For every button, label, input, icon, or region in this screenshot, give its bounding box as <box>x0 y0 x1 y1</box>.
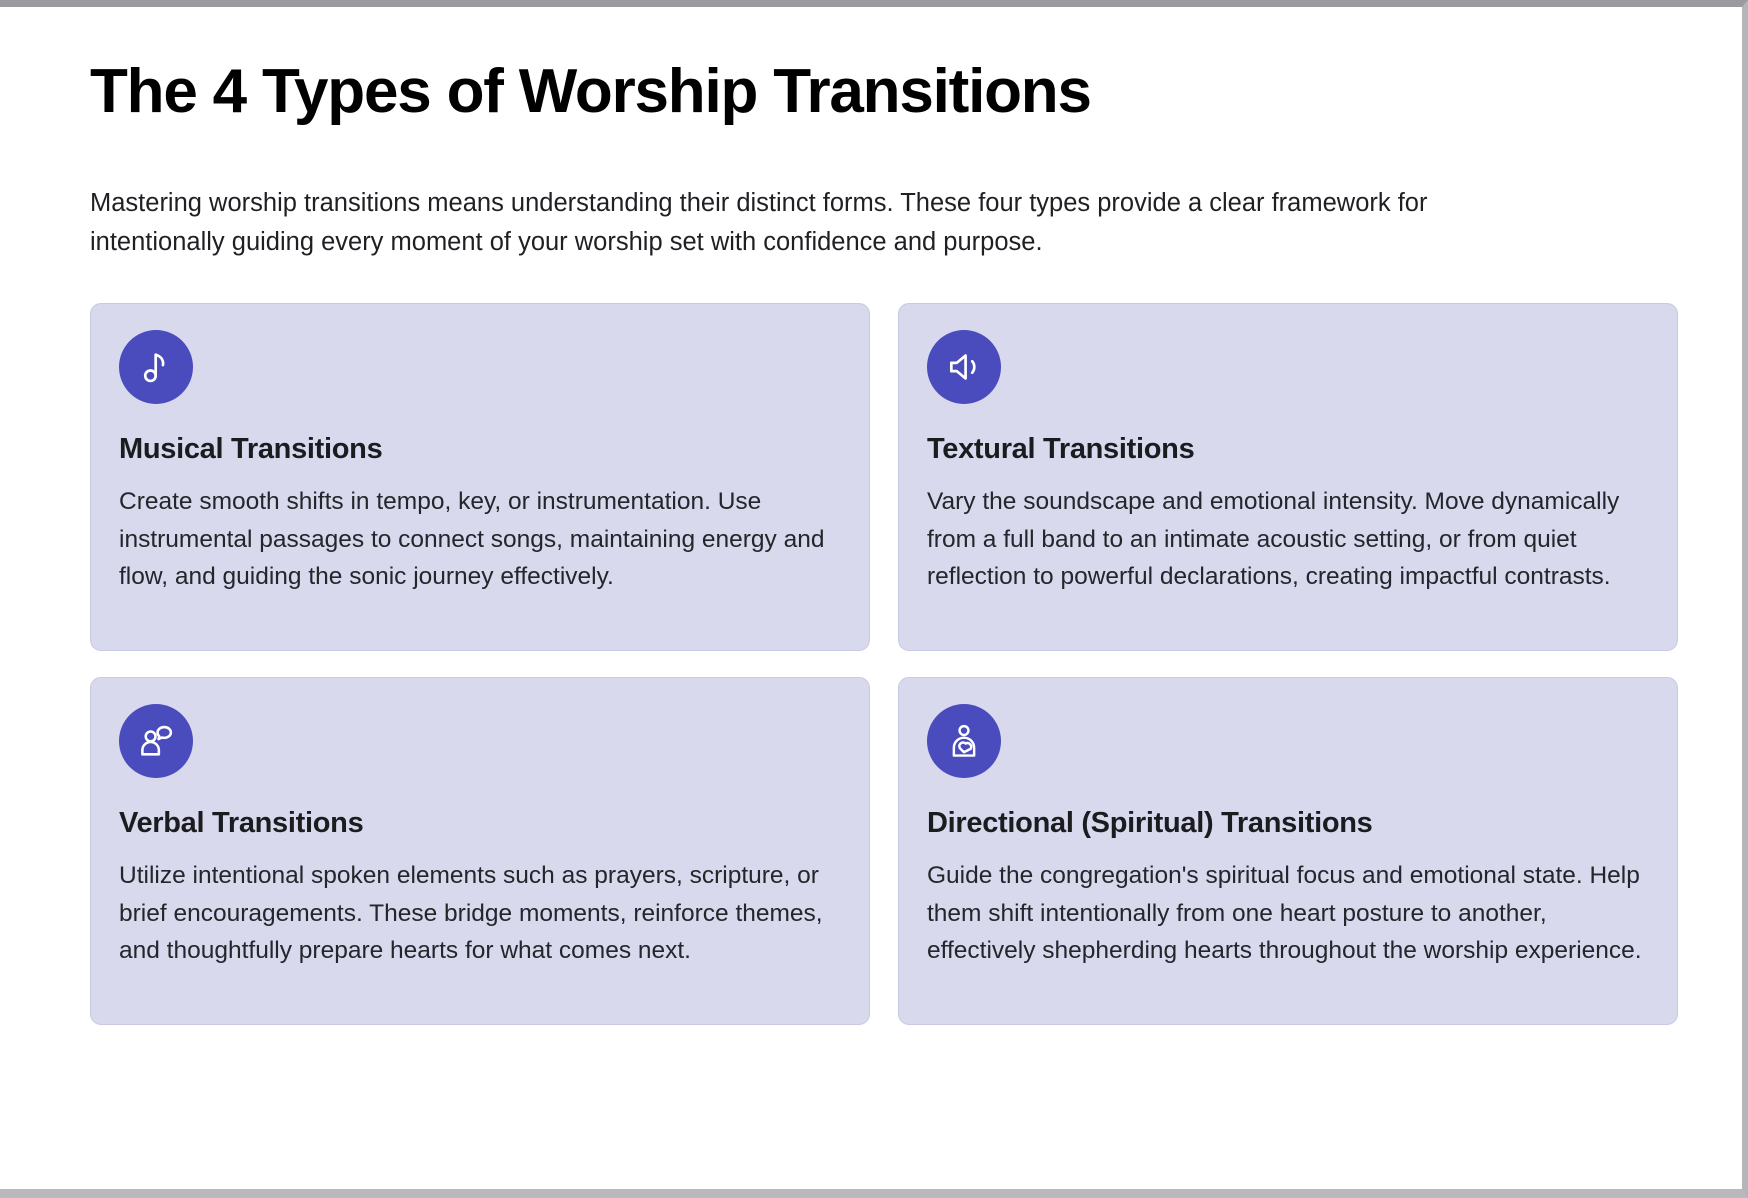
page-title: The 4 Types of Worship Transitions <box>90 59 1652 126</box>
card-body: Create smooth shifts in tempo, key, or i… <box>119 483 841 595</box>
transition-types-grid: Musical Transitions Create smooth shifts… <box>90 303 1652 1025</box>
person-heart-icon <box>927 704 1001 778</box>
card-title: Musical Transitions <box>119 432 841 467</box>
transition-card-textural: Textural Transitions Vary the soundscape… <box>898 303 1678 651</box>
music-note-icon <box>119 330 193 404</box>
intro-paragraph: Mastering worship transitions means unde… <box>90 184 1520 262</box>
person-speech-bubble-icon <box>119 704 193 778</box>
page-root: The 4 Types of Worship Transitions Maste… <box>0 7 1742 1189</box>
content-container: The 4 Types of Worship Transitions Maste… <box>0 7 1742 1025</box>
speaker-volume-icon <box>927 330 1001 404</box>
transition-card-directional: Directional (Spiritual) Transitions Guid… <box>898 677 1678 1025</box>
card-title: Directional (Spiritual) Transitions <box>927 806 1649 841</box>
card-title: Textural Transitions <box>927 432 1649 467</box>
card-body: Guide the congregation's spiritual focus… <box>927 857 1649 969</box>
card-body: Utilize intentional spoken elements such… <box>119 857 841 969</box>
transition-card-musical: Musical Transitions Create smooth shifts… <box>90 303 870 651</box>
transition-card-verbal: Verbal Transitions Utilize intentional s… <box>90 677 870 1025</box>
card-title: Verbal Transitions <box>119 806 841 841</box>
card-body: Vary the soundscape and emotional intens… <box>927 483 1649 595</box>
